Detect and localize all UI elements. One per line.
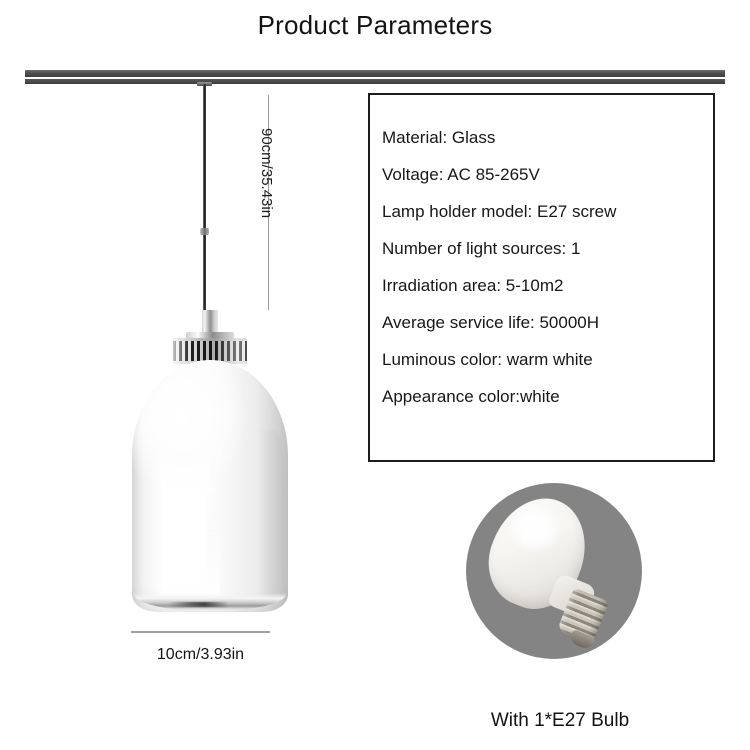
parameter-average-service-life: Average service life: 50000H bbox=[382, 304, 707, 341]
parameter-lamp-holder-model: Lamp holder model: E27 screw bbox=[382, 193, 707, 230]
ceiling-mount-bar bbox=[25, 70, 725, 84]
parameter-luminous-color: Luminous color: warm white bbox=[382, 341, 707, 378]
width-dimension-line bbox=[131, 631, 270, 633]
ceiling-bar-lower-stripe bbox=[25, 79, 725, 84]
lamp-hanging-cord bbox=[203, 84, 206, 316]
ceiling-bar-upper-stripe bbox=[25, 70, 725, 77]
lamp-chrome-neck bbox=[202, 310, 218, 334]
bulb-caption: With 1*E27 Bulb bbox=[420, 708, 700, 734]
parameter-voltage: Voltage: AC 85-265V bbox=[382, 156, 707, 193]
parameter-material: Material: Glass bbox=[382, 119, 707, 156]
parameter-irradiation-area: Irradiation area: 5-10m2 bbox=[382, 267, 707, 304]
parameters-box: Material: Glass Voltage: AC 85-265V Lamp… bbox=[368, 93, 715, 462]
parameters-list: Material: Glass Voltage: AC 85-265V Lamp… bbox=[382, 119, 707, 415]
parameter-appearance-color: Appearance color:white bbox=[382, 378, 707, 415]
width-dimension-label: 10cm/3.93in bbox=[131, 645, 270, 665]
parameter-number-of-light-sources: Number of light sources: 1 bbox=[382, 230, 707, 267]
bulb-glass-highlight bbox=[516, 529, 536, 547]
lamp-shade-shadow bbox=[260, 430, 286, 600]
pendant-lamp-illustration bbox=[110, 310, 310, 620]
lamp-shade-highlight bbox=[206, 490, 220, 608]
height-dimension-label: 90cm/35.43in bbox=[258, 128, 274, 218]
bulb-circle-badge bbox=[466, 483, 642, 659]
led-bulb-icon bbox=[466, 483, 642, 659]
cord-joint-connector bbox=[200, 228, 209, 235]
page-title: Product Parameters bbox=[0, 8, 750, 42]
lamp-rim-shadow bbox=[170, 602, 228, 607]
